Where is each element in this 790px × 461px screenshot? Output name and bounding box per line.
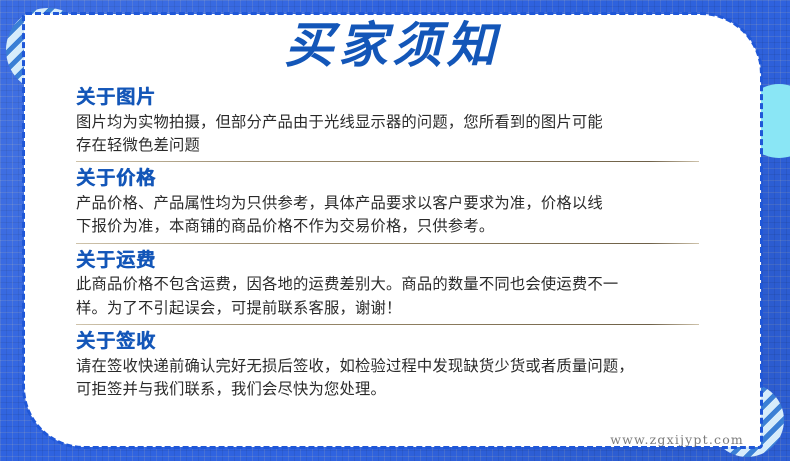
section-body-line: 样。为了不引起误会，可提前联系客服，谢谢！ <box>76 297 699 320</box>
section-body-line: 可拒签并与我们联系，我们会尽快为您处理。 <box>76 378 699 401</box>
notice-sections: 关于图片 图片均为实物拍摄，但部分产品由于光线显示器的问题，您所看到的图片可能 … <box>76 86 699 401</box>
section-divider <box>76 324 699 325</box>
section-body-line: 图片均为实物拍摄，但部分产品由于光线显示器的问题，您所看到的图片可能 <box>76 111 699 134</box>
section-divider <box>76 161 699 162</box>
section-divider <box>76 243 699 244</box>
section-about-receiving: 关于签收 请在签收快递前确认完好无损后签收，如检验过程中发现缺货少货或者质量问题… <box>76 330 699 401</box>
content-card: 买家须知 关于图片 图片均为实物拍摄，但部分产品由于光线显示器的问题，您所看到的… <box>24 14 761 447</box>
section-body-line: 下报价为准，本商铺的商品价格不作为交易价格，只供参考。 <box>76 215 699 238</box>
section-heading: 关于运费 <box>76 249 699 273</box>
page-title: 买家须知 <box>24 20 761 71</box>
section-about-price: 关于价格 产品价格、产品属性均为只供参考，具体产品要求以客户要求为准，价格以线 … <box>76 167 699 243</box>
site-watermark: www.zgxijypt.com <box>610 432 744 447</box>
section-heading: 关于签收 <box>76 330 699 354</box>
content-card-wrapper: 买家须知 关于图片 图片均为实物拍摄，但部分产品由于光线显示器的问题，您所看到的… <box>22 12 763 449</box>
section-heading: 关于价格 <box>76 167 699 191</box>
buyer-notice-poster: 买家须知 关于图片 图片均为实物拍摄，但部分产品由于光线显示器的问题，您所看到的… <box>0 0 790 461</box>
section-about-images: 关于图片 图片均为实物拍摄，但部分产品由于光线显示器的问题，您所看到的图片可能 … <box>76 86 699 162</box>
section-body-line: 存在轻微色差问题 <box>76 134 699 157</box>
section-heading: 关于图片 <box>76 86 699 110</box>
section-body-line: 此商品价格不包含运费，因各地的运费差别大。商品的数量不同也会使运费不一 <box>76 273 699 296</box>
section-about-shipping: 关于运费 此商品价格不包含运费，因各地的运费差别大。商品的数量不同也会使运费不一… <box>76 249 699 325</box>
section-body-line: 产品价格、产品属性均为只供参考，具体产品要求以客户要求为准，价格以线 <box>76 192 699 215</box>
section-body-line: 请在签收快递前确认完好无损后签收，如检验过程中发现缺货少货或者质量问题， <box>76 355 699 378</box>
